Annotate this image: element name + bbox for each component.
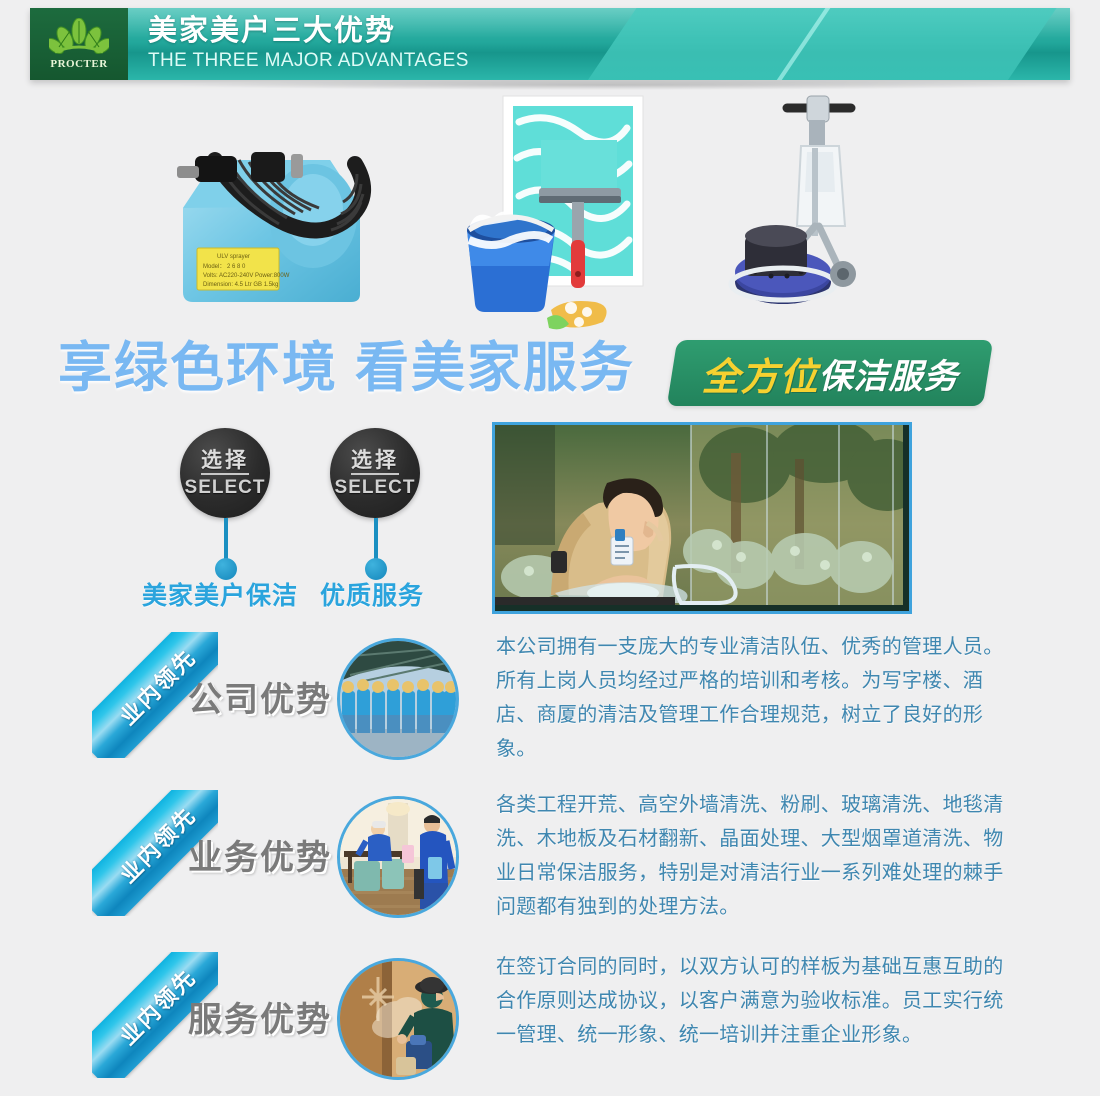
logo-wordmark: PROCTER xyxy=(50,58,107,70)
advantage-row: 业内领先 公司优势 xyxy=(0,630,1100,770)
floor-polisher-image xyxy=(715,86,905,331)
advantage-thumbnail xyxy=(337,796,459,918)
advantage-thumbnail xyxy=(337,638,459,760)
advantage-thumbnail xyxy=(337,958,459,1080)
svg-text:Dimension: 4.5 Ltr GB 1: Dimension: 4.5 Ltr GB 1.5kg xyxy=(203,282,278,288)
select-label-2: 优质服务 xyxy=(320,576,424,612)
select-badge-cn: 选择 xyxy=(351,449,399,475)
banner-highlight-text: 全方位 xyxy=(701,346,818,401)
header-title-cn: 美家美户三大优势 xyxy=(148,14,469,48)
select-badge-circle[interactable]: 选择 SELECT xyxy=(180,428,270,518)
advantages-page: PROCTER 美家美户三大优势 THE THREE MAJOR ADVANTA… xyxy=(0,0,1100,1096)
advantage-description: 本公司拥有一支庞大的专业清洁队伍、优秀的管理人员。所有上岗人员均经过严格的培训和… xyxy=(496,630,1008,766)
svg-text:Volts: AC220-240V Power:800W: Volts: AC220-240V Power:800W xyxy=(203,273,290,279)
advantage-description: 在签订合同的同时，以双方认可的样板为基础互惠互助的合作原则达成协议，以客户满意为… xyxy=(496,950,1008,1052)
advantage-title: 服务优势 xyxy=(188,992,338,1041)
advantage-row: 业内领先 业务优势 xyxy=(0,788,1100,928)
ulv-sprayer-image: ULV sprayer Model： 2 6 8 0 Volts: AC220-… xyxy=(155,98,425,328)
hero-photo xyxy=(492,422,912,614)
header-diagonal-shape xyxy=(562,8,1070,80)
window-squeegee-image xyxy=(445,88,695,338)
advantage-row: 业内领先 服务优势 xyxy=(0,950,1100,1090)
advantage-title: 业务优势 xyxy=(188,830,338,879)
svg-text:ULV sprayer: ULV sprayer xyxy=(217,254,250,260)
svg-text:Model： 2 6 8 0: Model： 2 6 8 0 xyxy=(203,264,246,270)
header-title-group: 美家美户三大优势 THE THREE MAJOR ADVANTAGES xyxy=(148,14,469,73)
select-badge-group-1: 选择 SELECT xyxy=(180,428,270,518)
service-scope-banner: 全方位 保洁服务 xyxy=(667,340,993,406)
leaf-icon xyxy=(49,18,109,60)
page-headline: 享绿色环境 看美家服务 xyxy=(58,337,635,399)
select-badge-en: SELECT xyxy=(335,477,416,498)
company-logo: PROCTER xyxy=(30,8,128,80)
page-header: PROCTER 美家美户三大优势 THE THREE MAJOR ADVANTA… xyxy=(30,8,1070,80)
product-image-strip: ULV sprayer Model： 2 6 8 0 Volts: AC220-… xyxy=(0,88,1100,338)
banner-rest-text: 保洁服务 xyxy=(819,349,959,398)
advantage-title: 公司优势 xyxy=(188,672,338,721)
select-badge-group-2: 选择 SELECT xyxy=(330,428,420,518)
select-badge-en: SELECT xyxy=(185,477,266,498)
advantage-description: 各类工程开荒、高空外墙清洗、粉刷、玻璃清洗、地毯清洗、木地板及石材翻新、晶面处理… xyxy=(496,788,1008,924)
select-badge-circle[interactable]: 选择 SELECT xyxy=(330,428,420,518)
select-badge-cn: 选择 xyxy=(201,449,249,475)
header-title-en: THE THREE MAJOR ADVANTAGES xyxy=(148,49,469,73)
select-label-1: 美家美户保洁 xyxy=(142,576,298,612)
